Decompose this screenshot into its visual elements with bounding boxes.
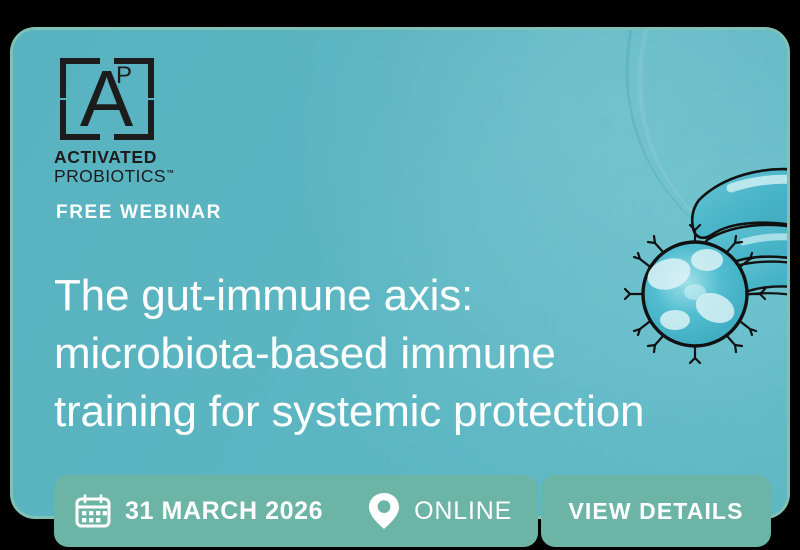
brand-logo[interactable]: A P ACTIVATED PROBIOTICS™ [54,50,174,187]
event-location: ONLINE [367,491,512,531]
map-pin-icon [367,491,401,531]
page-title: The gut-immune axis: microbiota-based im… [54,267,744,441]
calendar-icon [74,492,112,530]
webinar-promo-card[interactable]: A P ACTIVATED PROBIOTICS™ FREE WEBINAR T… [13,30,787,516]
logo-letter-p: P [116,64,132,88]
logo-wordmark-line1: ACTIVATED [54,148,174,167]
event-date: 31 MARCH 2026 [74,492,323,530]
logo-letter-a: A [54,56,158,142]
logo-mark-icon: A P [54,50,158,142]
event-location-text: ONLINE [414,497,512,526]
event-date-text: 31 MARCH 2026 [125,497,323,526]
headline-line-3: training for systemic protection [54,383,744,441]
headline-line-2: microbiota-based immune [54,325,744,383]
logo-trademark-symbol: ™ [166,169,174,178]
view-details-button[interactable]: VIEW DETAILS [541,475,771,547]
logo-wordmark-line2: PROBIOTICS [54,167,166,186]
event-meta-pill: 31 MARCH 2026 ONLINE [54,475,538,547]
headline-line-1: The gut-immune axis: [54,267,744,325]
card-clip: A P ACTIVATED PROBIOTICS™ FREE WEBINAR T… [13,30,787,516]
eyebrow-label: FREE WEBINAR [56,202,222,224]
